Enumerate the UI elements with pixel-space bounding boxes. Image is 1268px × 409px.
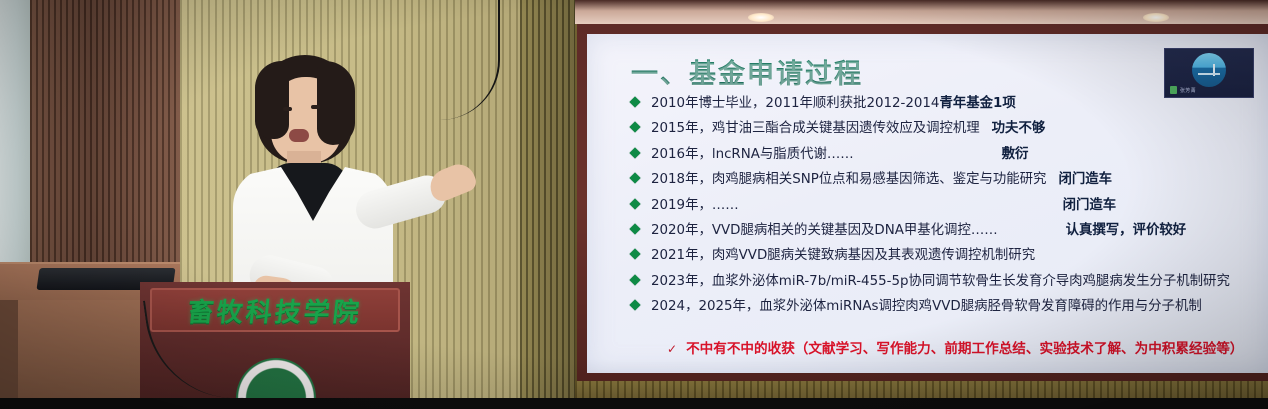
bullet-diamond-icon xyxy=(629,96,640,107)
participant-status-icon xyxy=(1170,86,1177,94)
presenter-mouth xyxy=(289,129,309,142)
bullet-text: 2019年，…… xyxy=(651,198,739,213)
presenter-hair-right xyxy=(317,61,355,145)
bullet-diamond-icon xyxy=(629,173,640,184)
participant-label: 张芳菁 xyxy=(1170,86,1196,94)
slide-bullet-item: 2024，2025年，血浆外泌体miRNAs调控肉鸡VVD腿病胫骨软骨发育障碍的… xyxy=(631,299,1254,314)
slide-bullet-item: 2010年博士毕业，2011年顺利获批2012-2014 青年基金1项 xyxy=(631,96,1254,111)
bullet-text: 2018年，肉鸡腿病相关SNP位点和易感基因筛选、鉴定与功能研究 xyxy=(651,172,1046,187)
ceiling-downlight-right xyxy=(1143,13,1169,22)
bullet-diamond-icon xyxy=(629,274,640,285)
slide-bullet-item: 2016年，lncRNA与脂质代谢……敷衍 xyxy=(631,147,1254,162)
bullet-text: 2010年博士毕业，2011年顺利获批2012-2014 xyxy=(651,96,939,111)
lecture-hall-scene: 畜牧科技学院 一、基金申请过程 2010年博士毕业，2011年顺利获批2012-… xyxy=(0,0,1268,409)
presenter-hair-left xyxy=(255,61,289,139)
bullet-text: 2016年，lncRNA与脂质代谢…… xyxy=(651,147,854,162)
slide-title: 一、基金申请过程 xyxy=(631,52,863,91)
bullet-text: 2021年，肉鸡VVD腿病关键致病基因及其表观遗传调控机制研究 xyxy=(651,248,1035,263)
bullet-emphasis: 敷衍 xyxy=(1002,147,1029,162)
bullet-diamond-icon xyxy=(629,198,640,209)
dark-wood-slat-wall xyxy=(30,0,180,300)
bullet-emphasis: 功夫不够 xyxy=(992,121,1046,136)
bullet-text: 2015年，鸡甘油三酯合成关键基因遗传效应及调控机理 xyxy=(651,121,980,136)
participant-name: 张芳菁 xyxy=(1180,87,1196,94)
bullet-emphasis: 认真撰写，评价较好 xyxy=(1066,223,1187,238)
bullet-text: 2023年，血浆外泌体miR-7b/miR-455-5p协同调节软骨生长发育介导… xyxy=(651,274,1230,289)
bullet-diamond-icon xyxy=(629,300,640,311)
video-call-overlay[interactable]: 张芳菁 xyxy=(1164,48,1254,98)
bullet-diamond-icon xyxy=(629,122,640,133)
bullet-diamond-icon xyxy=(629,249,640,260)
bullet-text: 2020年，VVD腿病相关的关键基因及DNA甲基化调控…… xyxy=(651,223,998,238)
slide-conclusion-text: 不中有不中的收获（文献学习、写作能力、前期工作总结、实验技术了解、为中积累经验等… xyxy=(686,337,1243,357)
bullet-emphasis: 青年基金1项 xyxy=(939,96,1015,111)
projection-screen-frame: 一、基金申请过程 2010年博士毕业，2011年顺利获批2012-2014 青年… xyxy=(577,24,1268,381)
checkmark-icon: ✓ xyxy=(667,342,677,356)
side-desk-front xyxy=(18,300,150,409)
bullet-diamond-icon xyxy=(629,223,640,234)
room-left-area: 畜牧科技学院 xyxy=(0,0,575,409)
slide-bullet-item: 2021年，肉鸡VVD腿病关键致病基因及其表观遗传调控机制研究 xyxy=(631,248,1254,263)
bullet-diamond-icon xyxy=(629,147,640,158)
presentation-slide: 一、基金申请过程 2010年博士毕业，2011年顺利获批2012-2014 青年… xyxy=(587,34,1268,373)
side-desk-shadow xyxy=(0,300,18,409)
ceiling-downlight-left xyxy=(748,13,774,22)
slide-bullet-item: 2020年，VVD腿病相关的关键基因及DNA甲基化调控……认真撰写，评价较好 xyxy=(631,223,1254,238)
bottom-letterbox xyxy=(0,398,1268,409)
presenter-eye-left xyxy=(283,107,292,111)
slide-bullet-item: 2015年，鸡甘油三酯合成关键基因遗传效应及调控机理功夫不够 xyxy=(631,121,1254,136)
slide-bullet-list: 2010年博士毕业，2011年顺利获批2012-2014 青年基金1项2015年… xyxy=(631,96,1254,325)
bullet-emphasis: 闭门造车 xyxy=(1063,198,1117,213)
presenter-eye-right xyxy=(311,105,320,109)
right-wood-slat-wall xyxy=(520,0,575,409)
participant-avatar xyxy=(1192,53,1226,87)
slide-bullet-item: 2023年，血浆外泌体miR-7b/miR-455-5p协同调节软骨生长发育介导… xyxy=(631,274,1254,289)
slide-conclusion: ✓ 不中有不中的收获（文献学习、写作能力、前期工作总结、实验技术了解、为中积累经… xyxy=(667,337,1243,357)
bullet-text: 2024，2025年，血浆外泌体miRNAs调控肉鸡VVD腿病胫骨软骨发育障碍的… xyxy=(651,299,1202,314)
slide-bullet-item: 2019年，……闭门造车 xyxy=(631,198,1254,213)
slide-bullet-item: 2018年，肉鸡腿病相关SNP位点和易感基因筛选、鉴定与功能研究闭门造车 xyxy=(631,172,1254,187)
bullet-emphasis: 闭门造车 xyxy=(1058,172,1112,187)
